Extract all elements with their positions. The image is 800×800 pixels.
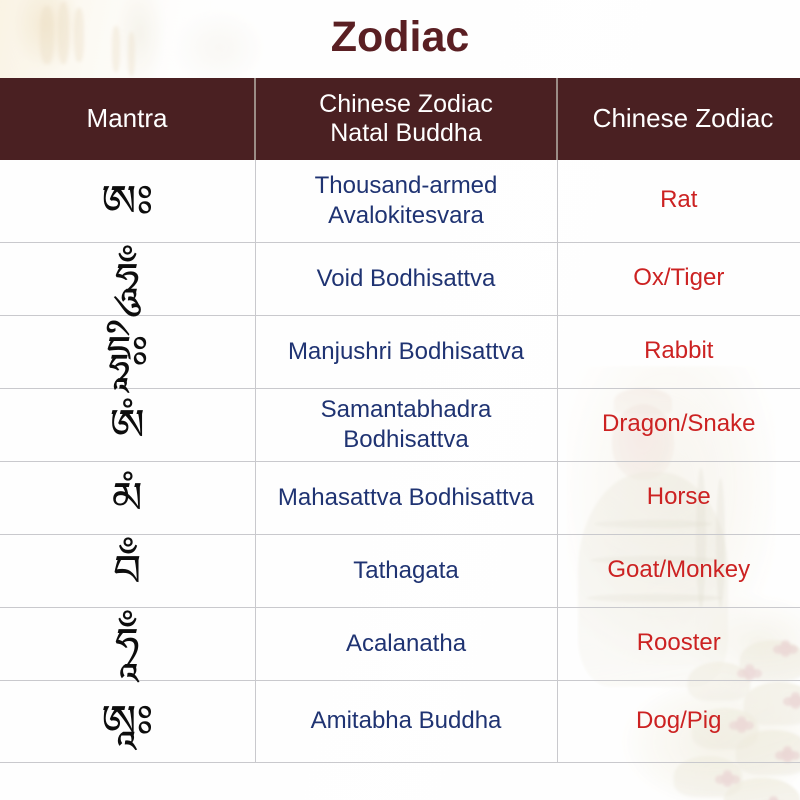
table-body: ཨཿ Thousand-armed Avalokitesvara Rat ཧཱུ… <box>0 160 800 762</box>
header-row: Mantra Chinese Zodiac Natal Buddha Chine… <box>0 78 800 160</box>
zodiac-cell: Rooster <box>557 607 800 680</box>
table-row: མཾ Mahasattva Bodhisattva Horse <box>0 461 800 534</box>
natal-buddha-cell: Manjushri Bodhisattva <box>255 315 557 388</box>
seed-syllable-vam-icon: བྃ <box>113 551 141 593</box>
table-row: བྃ Tathagata Goat/Monkey <box>0 534 800 607</box>
mantra-cell: ཨཾ <box>0 388 255 461</box>
seed-syllable-am-icon: ཨཾ <box>110 405 145 447</box>
natal-buddha-line2: Avalokitesvara <box>328 202 484 229</box>
natal-buddha-cell: Acalanatha <box>255 607 557 680</box>
table-header: Mantra Chinese Zodiac Natal Buddha Chine… <box>0 78 800 160</box>
natal-buddha-cell: Tathagata <box>255 534 557 607</box>
natal-buddha-cell: Thousand-armed Avalokitesvara <box>255 160 557 242</box>
column-header-natal-buddha-line1: Chinese Zodiac <box>319 90 493 118</box>
lotus-blossom <box>721 773 734 784</box>
natal-buddha-cell: Mahasattva Bodhisattva <box>255 461 557 534</box>
mantra-cell: དྷཱིཿ <box>0 315 255 388</box>
mantra-cell: ཨཱཿ <box>0 680 255 762</box>
title-area: Zodiac <box>0 0 800 78</box>
mantra-cell: བྃ <box>0 534 255 607</box>
column-header-mantra: Mantra <box>0 78 255 160</box>
mantra-cell: མཾ <box>0 461 255 534</box>
seed-syllable-mam-icon: མཾ <box>112 478 143 520</box>
mantra-cell: ཧཱུྃ <box>0 242 255 315</box>
natal-buddha-line1: Thousand-armed <box>315 172 498 199</box>
zodiac-cell: Horse <box>557 461 800 534</box>
seed-syllable-ham-icon: ཧཱྃ <box>115 624 140 666</box>
zodiac-cell: Ox/Tiger <box>557 242 800 315</box>
column-header-chinese-zodiac: Chinese Zodiac <box>557 78 800 160</box>
table-row: ཧཱྃ Acalanatha Rooster <box>0 607 800 680</box>
zodiac-cell: Dog/Pig <box>557 680 800 762</box>
table-row: དྷཱིཿ Manjushri Bodhisattva Rabbit <box>0 315 800 388</box>
zodiac-chart-page: Zodiac Mantra Chinese Zodiac Natal Buddh… <box>0 0 800 800</box>
seed-syllable-hum-icon: ཧཱུྃ <box>115 259 140 301</box>
column-header-natal-buddha: Chinese Zodiac Natal Buddha <box>255 78 557 160</box>
natal-buddha-line1: Samantabhadra <box>321 396 492 423</box>
table-row: ཨཿ Thousand-armed Avalokitesvara Rat <box>0 160 800 242</box>
seed-syllable-dhih-icon: དྷཱིཿ <box>106 332 148 374</box>
page-title: Zodiac <box>331 16 470 63</box>
seed-syllable-ah-icon: ཨཿ <box>101 181 153 223</box>
zodiac-cell: Dragon/Snake <box>557 388 800 461</box>
seed-syllable-aah-icon: ཨཱཿ <box>101 701 153 743</box>
mantra-cell: ཨཿ <box>0 160 255 242</box>
table-row: ཨཾ Samantabhadra Bodhisattva Dragon/Snak… <box>0 388 800 461</box>
natal-buddha-cell: Void Bodhisattva <box>255 242 557 315</box>
natal-buddha-line2: Bodhisattva <box>343 426 468 453</box>
table-row: ཧཱུྃ Void Bodhisattva Ox/Tiger <box>0 242 800 315</box>
natal-buddha-cell: Samantabhadra Bodhisattva <box>255 388 557 461</box>
table-row: ཨཱཿ Amitabha Buddha Dog/Pig <box>0 680 800 762</box>
zodiac-cell: Rat <box>557 160 800 242</box>
zodiac-table: Mantra Chinese Zodiac Natal Buddha Chine… <box>0 78 800 763</box>
natal-buddha-cell: Amitabha Buddha <box>255 680 557 762</box>
column-header-natal-buddha-line2: Natal Buddha <box>330 119 482 147</box>
zodiac-cell: Goat/Monkey <box>557 534 800 607</box>
lotus-petal <box>724 778 800 800</box>
mantra-cell: ཧཱྃ <box>0 607 255 680</box>
zodiac-cell: Rabbit <box>557 315 800 388</box>
